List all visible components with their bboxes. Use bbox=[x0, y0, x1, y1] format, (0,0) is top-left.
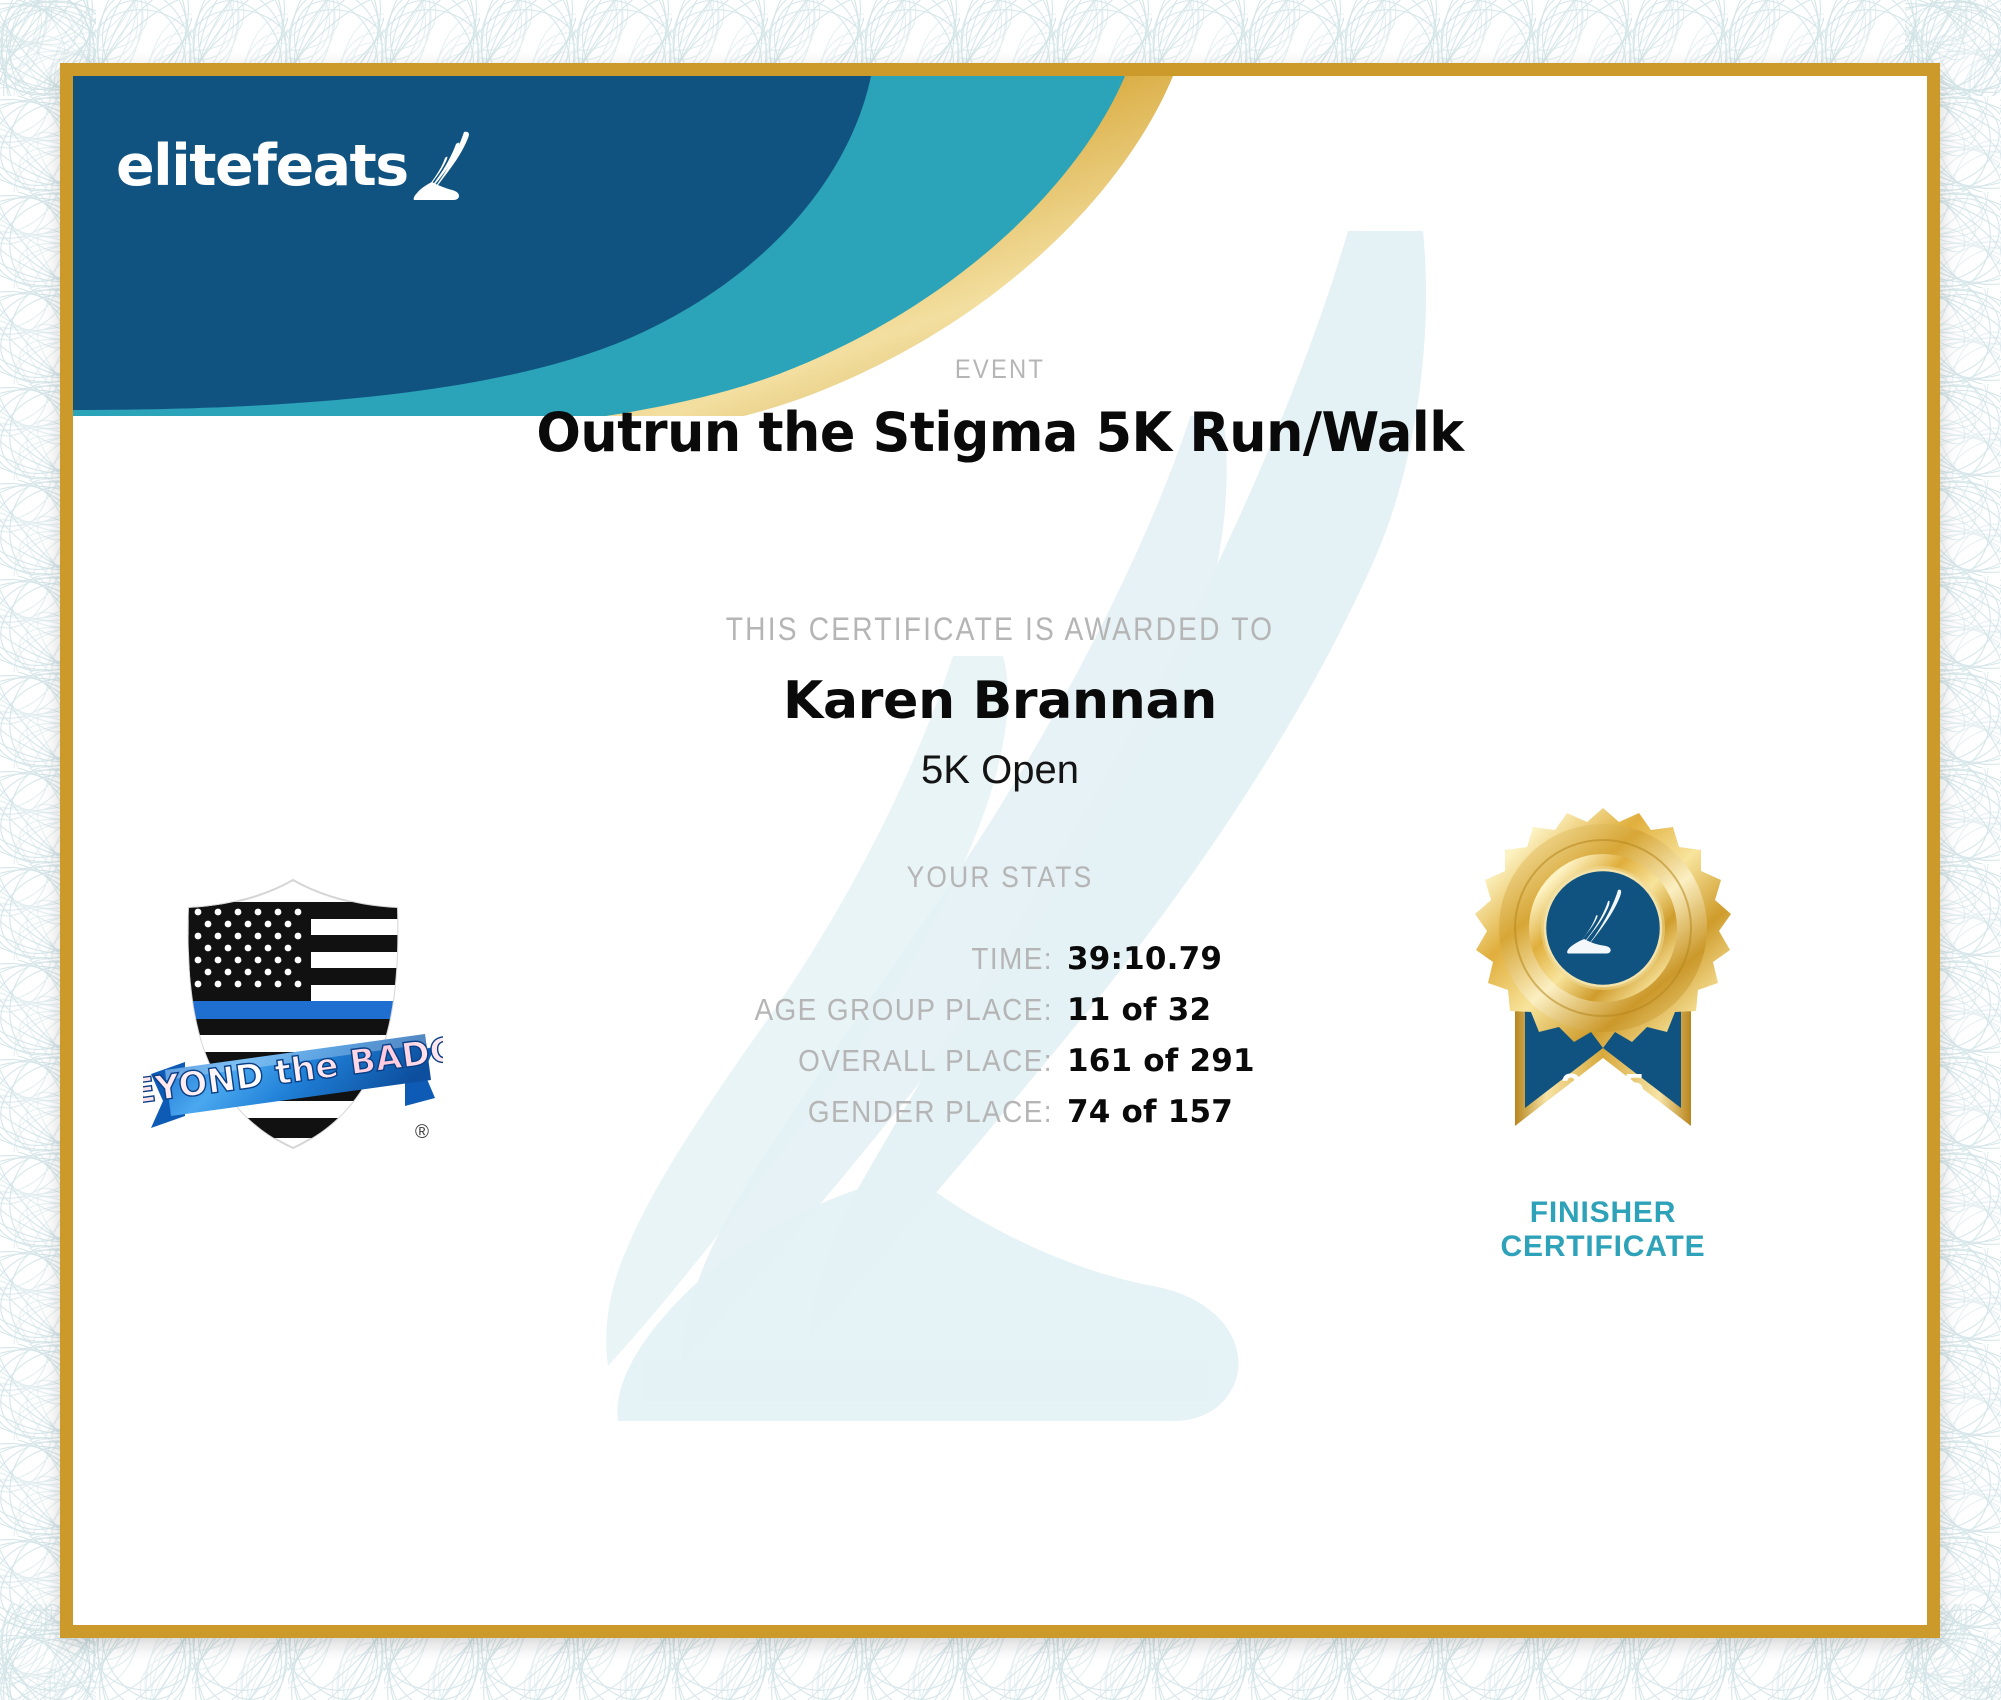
seal-caption-line-1: FINISHER bbox=[1443, 1196, 1763, 1230]
stat-label: OVERALL PLACE: bbox=[603, 1043, 1053, 1079]
stat-label: AGE GROUP PLACE: bbox=[603, 992, 1053, 1028]
stat-label: TIME: bbox=[603, 941, 1053, 977]
event-label: EVENT bbox=[184, 354, 1816, 385]
seal-year: 2025 bbox=[1561, 1066, 1645, 1107]
seal-medal-disc bbox=[1475, 808, 1731, 1048]
seal-caption-line-2: CERTIFICATE bbox=[1443, 1230, 1763, 1264]
finisher-seal-medal: 2025 bbox=[1443, 796, 1763, 1196]
awarded-to-label: THIS CERTIFICATE IS AWARDED TO bbox=[184, 611, 1816, 648]
certificate-body: elitefeats EVENT Ou bbox=[73, 76, 1927, 1625]
seal-caption: FINISHER CERTIFICATE bbox=[1443, 1196, 1763, 1263]
certificate-page: elitefeats EVENT Ou bbox=[0, 0, 2001, 1700]
division-name: 5K Open bbox=[73, 748, 1927, 793]
stat-label: GENDER PLACE: bbox=[603, 1094, 1053, 1130]
stat-value: 161 of 291 bbox=[1067, 1043, 1447, 1079]
thin-blue-line-shield-icon: BEYOND the BADGE ® bbox=[143, 866, 443, 1156]
stat-value: 39:10.79 bbox=[1067, 941, 1447, 977]
recipient-name: Karen Brannan bbox=[73, 671, 1927, 731]
registered-trademark-symbol: ® bbox=[415, 1122, 429, 1143]
stat-value: 74 of 157 bbox=[1067, 1094, 1447, 1130]
stat-value: 11 of 32 bbox=[1067, 992, 1447, 1028]
certificate-content: EVENT Outrun the Stigma 5K Run/Walk THIS… bbox=[73, 76, 1927, 1625]
certificate-gold-frame: elitefeats EVENT Ou bbox=[60, 63, 1940, 1638]
event-name: Outrun the Stigma 5K Run/Walk bbox=[101, 401, 1899, 464]
